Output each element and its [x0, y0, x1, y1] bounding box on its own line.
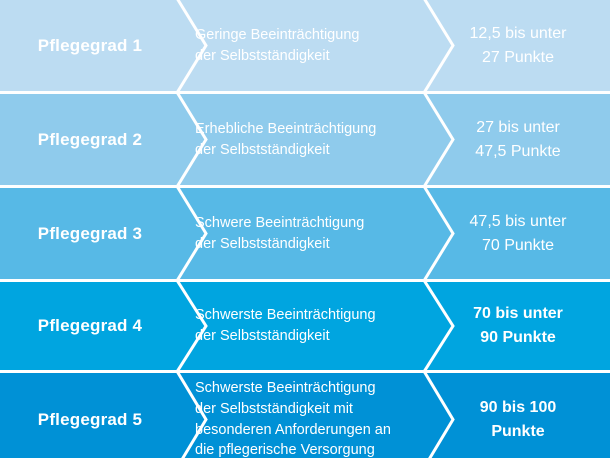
- pflegegrad-row[interactable]: Pflegegrad 3Schwere Beeinträchtigungder …: [0, 188, 610, 279]
- pflegegrad-label: Pflegegrad 5: [0, 410, 180, 430]
- description-line: Schwerste Beeinträchtigung: [195, 305, 412, 326]
- description-line: der Selbstständigkeit mit: [195, 399, 412, 420]
- description-line: der Selbstständigkeit: [195, 140, 412, 161]
- pflegegrad-row[interactable]: Pflegegrad 2Erhebliche Beeinträchtigungd…: [0, 94, 610, 185]
- description-line: Erhebliche Beeinträchtigung: [195, 119, 412, 140]
- pflegegrad-row[interactable]: Pflegegrad 4Schwerste Beeinträchtigungde…: [0, 282, 610, 370]
- points-line: 70 Punkte: [426, 234, 610, 258]
- description-line: Schwere Beeinträchtigung: [195, 213, 412, 234]
- points-line: 90 Punkte: [426, 326, 610, 350]
- pflegegrad-row[interactable]: Pflegegrad 1Geringe Beeinträchtigungder …: [0, 0, 610, 91]
- description-line: der Selbstständigkeit: [195, 326, 412, 347]
- description-line: die pflegerische Versorgung: [195, 440, 412, 458]
- pflegegrad-label: Pflegegrad 2: [0, 130, 180, 150]
- pflegegrade-chevron-diagram: Pflegegrad 1Geringe Beeinträchtigungder …: [0, 0, 610, 458]
- punktebereich-value: 47,5 bis unter70 Punkte: [412, 210, 610, 258]
- beeintraechtigung-description: Schwere Beeinträchtigungder Selbstständi…: [180, 213, 412, 254]
- points-line: 47,5 Punkte: [426, 140, 610, 164]
- punktebereich-value: 12,5 bis unter27 Punkte: [412, 22, 610, 70]
- points-line: Punkte: [426, 420, 610, 444]
- beeintraechtigung-description: Schwerste Beeinträchtigungder Selbststän…: [180, 305, 412, 346]
- points-line: 47,5 bis unter: [426, 210, 610, 234]
- description-line: Schwerste Beeinträchtigung: [195, 378, 412, 399]
- pflegegrad-label: Pflegegrad 4: [0, 316, 180, 336]
- punktebereich-value: 90 bis 100Punkte: [412, 396, 610, 444]
- pflegegrad-row[interactable]: Pflegegrad 5Schwerste Beeinträchtigungde…: [0, 373, 610, 458]
- description-line: besonderen Anforderungen an: [195, 420, 412, 441]
- beeintraechtigung-description: Geringe Beeinträchtigungder Selbstständi…: [180, 25, 412, 66]
- points-line: 12,5 bis unter: [426, 22, 610, 46]
- pflegegrad-label: Pflegegrad 3: [0, 224, 180, 244]
- points-line: 90 bis 100: [426, 396, 610, 420]
- points-line: 70 bis unter: [426, 302, 610, 326]
- points-line: 27 Punkte: [426, 46, 610, 70]
- pflegegrad-label: Pflegegrad 1: [0, 36, 180, 56]
- description-line: der Selbstständigkeit: [195, 234, 412, 255]
- punktebereich-value: 70 bis unter90 Punkte: [412, 302, 610, 350]
- beeintraechtigung-description: Erhebliche Beeinträchtigungder Selbststä…: [180, 119, 412, 160]
- description-line: Geringe Beeinträchtigung: [195, 25, 412, 46]
- punktebereich-value: 27 bis unter47,5 Punkte: [412, 116, 610, 164]
- beeintraechtigung-description: Schwerste Beeinträchtigungder Selbststän…: [180, 378, 412, 458]
- points-line: 27 bis unter: [426, 116, 610, 140]
- description-line: der Selbstständigkeit: [195, 46, 412, 67]
